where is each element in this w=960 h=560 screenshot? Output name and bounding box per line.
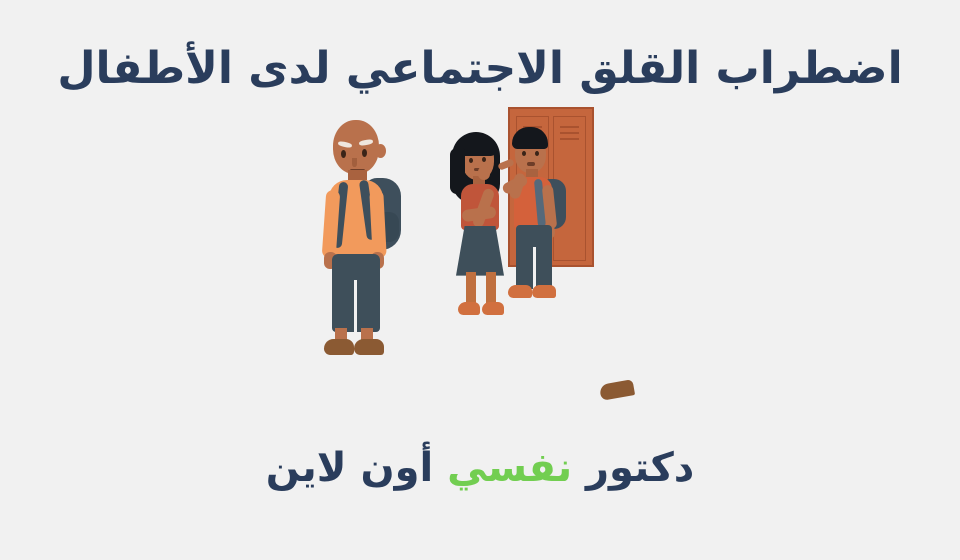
skirt: [456, 226, 504, 276]
brand-tagline: دكتور نفسي أون لاين: [0, 445, 960, 491]
hand-at-mouth: [478, 166, 490, 180]
mouth-talking: [527, 162, 535, 166]
hair: [512, 127, 548, 149]
shoe-left: [324, 339, 354, 355]
hair-side: [450, 148, 465, 194]
shoe-right: [532, 285, 556, 298]
eye-right: [362, 149, 367, 157]
title-block: اضطراب القلق الاجتماعي لدى الأطفال: [30, 42, 930, 96]
shoe-right: [354, 339, 384, 355]
character-pointing-boy: [500, 127, 570, 317]
tagline-before: دكتور: [572, 445, 694, 491]
tagline-block: دكتور نفسي أون لاين: [0, 445, 960, 491]
leg-gap: [533, 247, 536, 291]
eye-right: [482, 157, 486, 162]
illustration-stage: [0, 102, 960, 402]
eye-right: [535, 151, 539, 156]
shoe-left: [508, 285, 532, 298]
leg-gap: [354, 280, 357, 334]
tagline-after: أون لاين: [266, 445, 447, 491]
tagline-accent-word: نفسي: [447, 445, 572, 491]
poster-canvas: اضطراب القلق الاجتماعي لدى الأطفال: [0, 0, 960, 560]
eye-left: [522, 151, 526, 156]
eye-left: [341, 150, 346, 158]
pointing-finger: [497, 158, 514, 170]
character-sad-boy: [305, 112, 415, 367]
page-title: اضطراب القلق الاجتماعي لدى الأطفال: [30, 42, 930, 96]
eye-left: [469, 158, 473, 163]
shoe-left: [458, 302, 480, 315]
nose: [352, 158, 357, 167]
